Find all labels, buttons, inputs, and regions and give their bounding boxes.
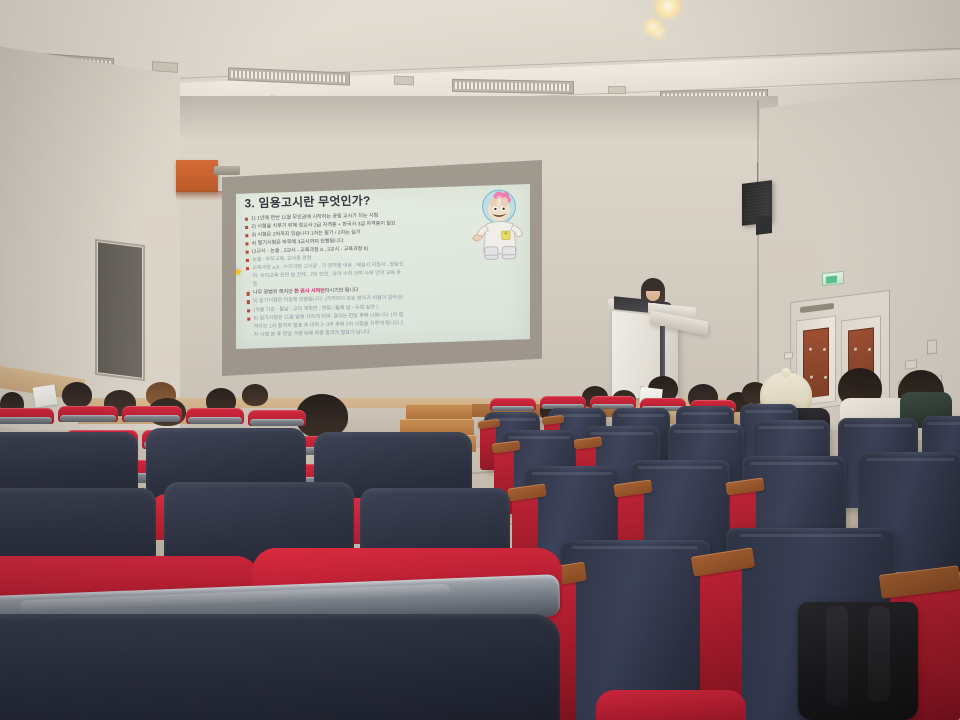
wall-plate [905,359,917,369]
star-icon: ★ [236,267,243,279]
foreground-seat-cushion [596,690,746,720]
bullet-marker-icon [245,218,248,221]
left-wall-door[interactable] [98,242,142,377]
wall-plate [927,339,937,354]
bullet-marker-icon [246,259,249,262]
bullet-marker-icon [246,276,249,279]
wall-shading [78,96,778,142]
backpack-strap [826,606,848,706]
box-shadow [176,191,224,201]
audience-head [62,382,92,408]
ceiling-spotlight [648,26,670,40]
ceiling-fixture-box [608,86,626,94]
bullet-marker-icon [245,226,248,229]
highlighted-text: 한 권사 서적만 [294,289,325,295]
bullet-marker-icon [245,234,248,237]
projection-screen: 3. 임용고시란 무엇인가? 1) 1년에 한번 11월 무인권에 시작하는 공… [222,160,542,376]
bullet-marker-icon [246,251,249,254]
bullet-marker-icon [247,317,250,320]
ceiling-light-fixture [452,79,574,94]
presenter-hair-front [643,280,663,291]
wall-corner [757,100,759,400]
backpack-strap [868,606,890,702]
bullet-marker-icon [245,243,248,246]
bullet-marker-icon [246,284,249,287]
bullet-marker-icon [247,301,250,304]
speaker-bracket [756,215,772,235]
lecture-hall-photo: 3. 임용고시란 무엇인가? 1) 1년에 한번 11월 무인권에 시작하는 공… [0,0,960,720]
ceiling-mount-box [176,160,218,192]
wall-plate [784,351,793,359]
bullet-marker-icon [247,309,250,312]
bullet-marker-icon [246,267,249,270]
exit-sign-icon [822,271,844,286]
screen-surface: 3. 임용고시란 무엇인가? 1) 1년에 한번 11월 무인권에 시작하는 공… [236,184,530,349]
black-backpack [798,602,918,720]
bullet-marker-icon [247,325,250,328]
bullet-marker-icon [247,292,250,295]
astronaut-mascot-icon [469,184,530,266]
audience-head [242,384,268,406]
bullet-marker-icon [248,334,251,337]
handout-paper [33,384,58,407]
foreground-seat-back[interactable] [0,614,560,720]
ceiling-fixture-box [394,76,414,86]
presentation-slide: 3. 임용고시란 무엇인가? 1) 1년에 한번 11월 무인권에 시작하는 공… [236,184,530,349]
